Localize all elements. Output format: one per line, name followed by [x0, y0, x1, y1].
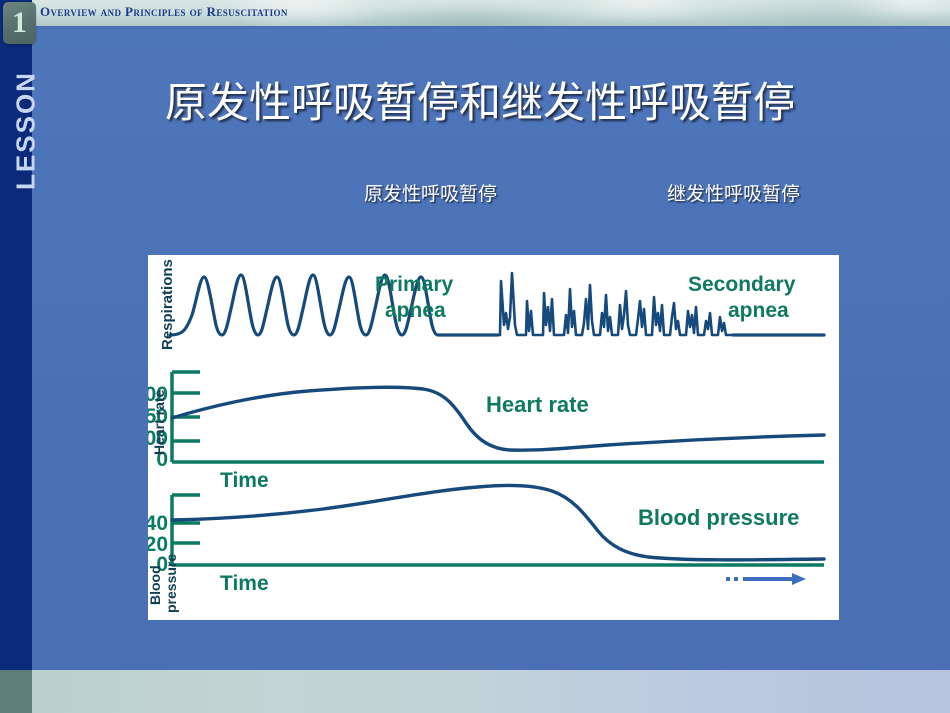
- time-arrow-icon: [726, 573, 806, 585]
- lesson-rail: LESSON: [0, 0, 32, 670]
- heart-rate-axis-label: Heart rate: [151, 389, 167, 455]
- primary-apnea-label: Primary: [375, 273, 454, 296]
- chart-panel: Respirations Primary apnea Secondary apn…: [148, 255, 839, 620]
- lesson-number-badge: 1: [3, 2, 36, 44]
- header-underline: [0, 26, 950, 29]
- blood-pressure-panel: 40 20 0 Blood pressure Time Blood pressu…: [148, 485, 824, 613]
- lesson-number: 1: [3, 2, 36, 44]
- blood-pressure-time-label: Time: [220, 572, 269, 595]
- respirations-panel: Respirations Primary apnea Secondary apn…: [159, 259, 824, 350]
- lesson-label: LESSON: [11, 56, 42, 206]
- blood-pressure-axis-label-2: pressure: [163, 554, 179, 613]
- secondary-apnea-label: Secondary: [688, 273, 796, 296]
- blood-pressure-tick-40: 40: [148, 512, 168, 535]
- slide-canvas: Overview and Principles of Resuscitation…: [0, 0, 950, 713]
- annotation-secondary-apnea: 继发性呼吸暂停: [667, 182, 837, 207]
- annotation-primary-apnea: 原发性呼吸暂停: [364, 182, 544, 207]
- bottom-bar: [0, 670, 950, 713]
- secondary-apnea-label-2: apnea: [728, 299, 789, 322]
- heart-rate-time-label: Time: [220, 469, 269, 492]
- heart-rate-label: Heart rate: [486, 392, 589, 417]
- heart-rate-panel: 200 150 100 0 Heart rate Time Heart rate: [148, 372, 824, 492]
- heart-rate-ticks: [172, 372, 200, 441]
- primary-apnea-label-2: apnea: [385, 299, 446, 322]
- header-band: Overview and Principles of Resuscitation: [0, 0, 950, 26]
- physiology-chart: Respirations Primary apnea Secondary apn…: [148, 255, 839, 620]
- blood-pressure-label: Blood pressure: [638, 505, 799, 530]
- respirations-axis-label: Respirations: [159, 259, 176, 350]
- bottom-bar-left-accent: [0, 670, 32, 713]
- header-title: Overview and Principles of Resuscitation: [40, 4, 288, 20]
- page-title: 原发性呼吸暂停和继发性呼吸暂停: [50, 78, 910, 128]
- blood-pressure-axis-label: Blood: [148, 565, 163, 605]
